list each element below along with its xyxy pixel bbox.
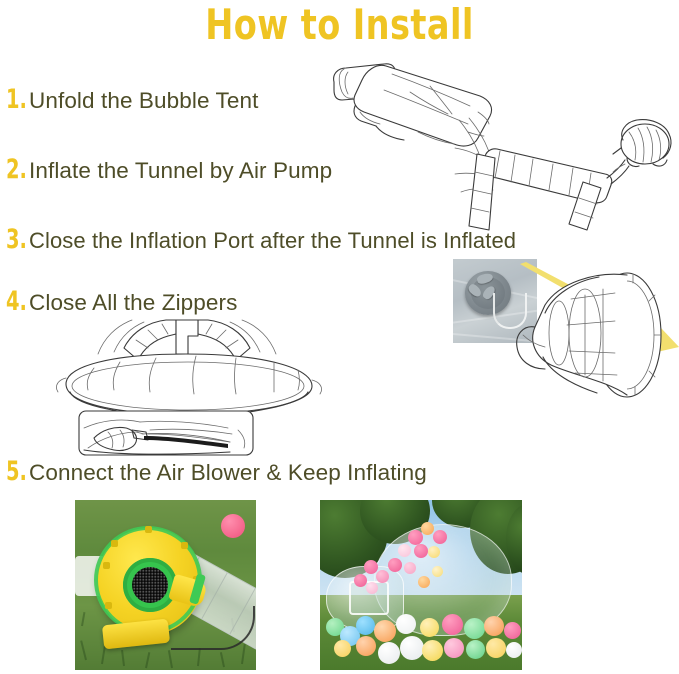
step-number-2: 2.	[6, 156, 21, 183]
step-label-3: Close the Inflation Port after the Tunne…	[29, 228, 516, 254]
step-label-5: Connect the Air Blower & Keep Inflating	[29, 460, 427, 486]
inflated-tunnel-illustration	[515, 265, 679, 410]
step-number-5: 5.	[6, 458, 21, 485]
step-label-1: Unfold the Bubble Tent	[29, 88, 258, 114]
step-number-3: 3.	[6, 226, 21, 253]
power-cord	[171, 606, 255, 650]
step-item-5: 5. Connect the Air Blower & Keep Inflati…	[6, 458, 427, 486]
air-blower-photo	[75, 500, 256, 670]
step-item-3: 3. Close the Inflation Port after the Tu…	[6, 226, 516, 254]
step-number-4: 4.	[6, 288, 21, 315]
blower-base	[102, 619, 170, 650]
step-item-2: 2. Inflate the Tunnel by Air Pump	[6, 156, 332, 184]
step-label-2: Inflate the Tunnel by Air Pump	[29, 158, 332, 184]
air-pump-illustration	[455, 118, 679, 233]
page-title: How to Install	[68, 2, 611, 48]
step-number-1: 1.	[6, 86, 21, 113]
step-label-4: Close All the Zippers	[29, 290, 237, 316]
blower-air-intake	[123, 558, 177, 612]
zipper-detail-callout	[78, 410, 254, 456]
bubble-tent-photo	[320, 500, 522, 670]
step-item-1: 1. Unfold the Bubble Tent	[6, 86, 258, 114]
step-item-4: 4. Close All the Zippers	[6, 288, 237, 316]
how-to-install-page: How to Install 1. Unfold the Bubble Tent…	[0, 0, 679, 674]
pink-balloon	[221, 514, 245, 538]
